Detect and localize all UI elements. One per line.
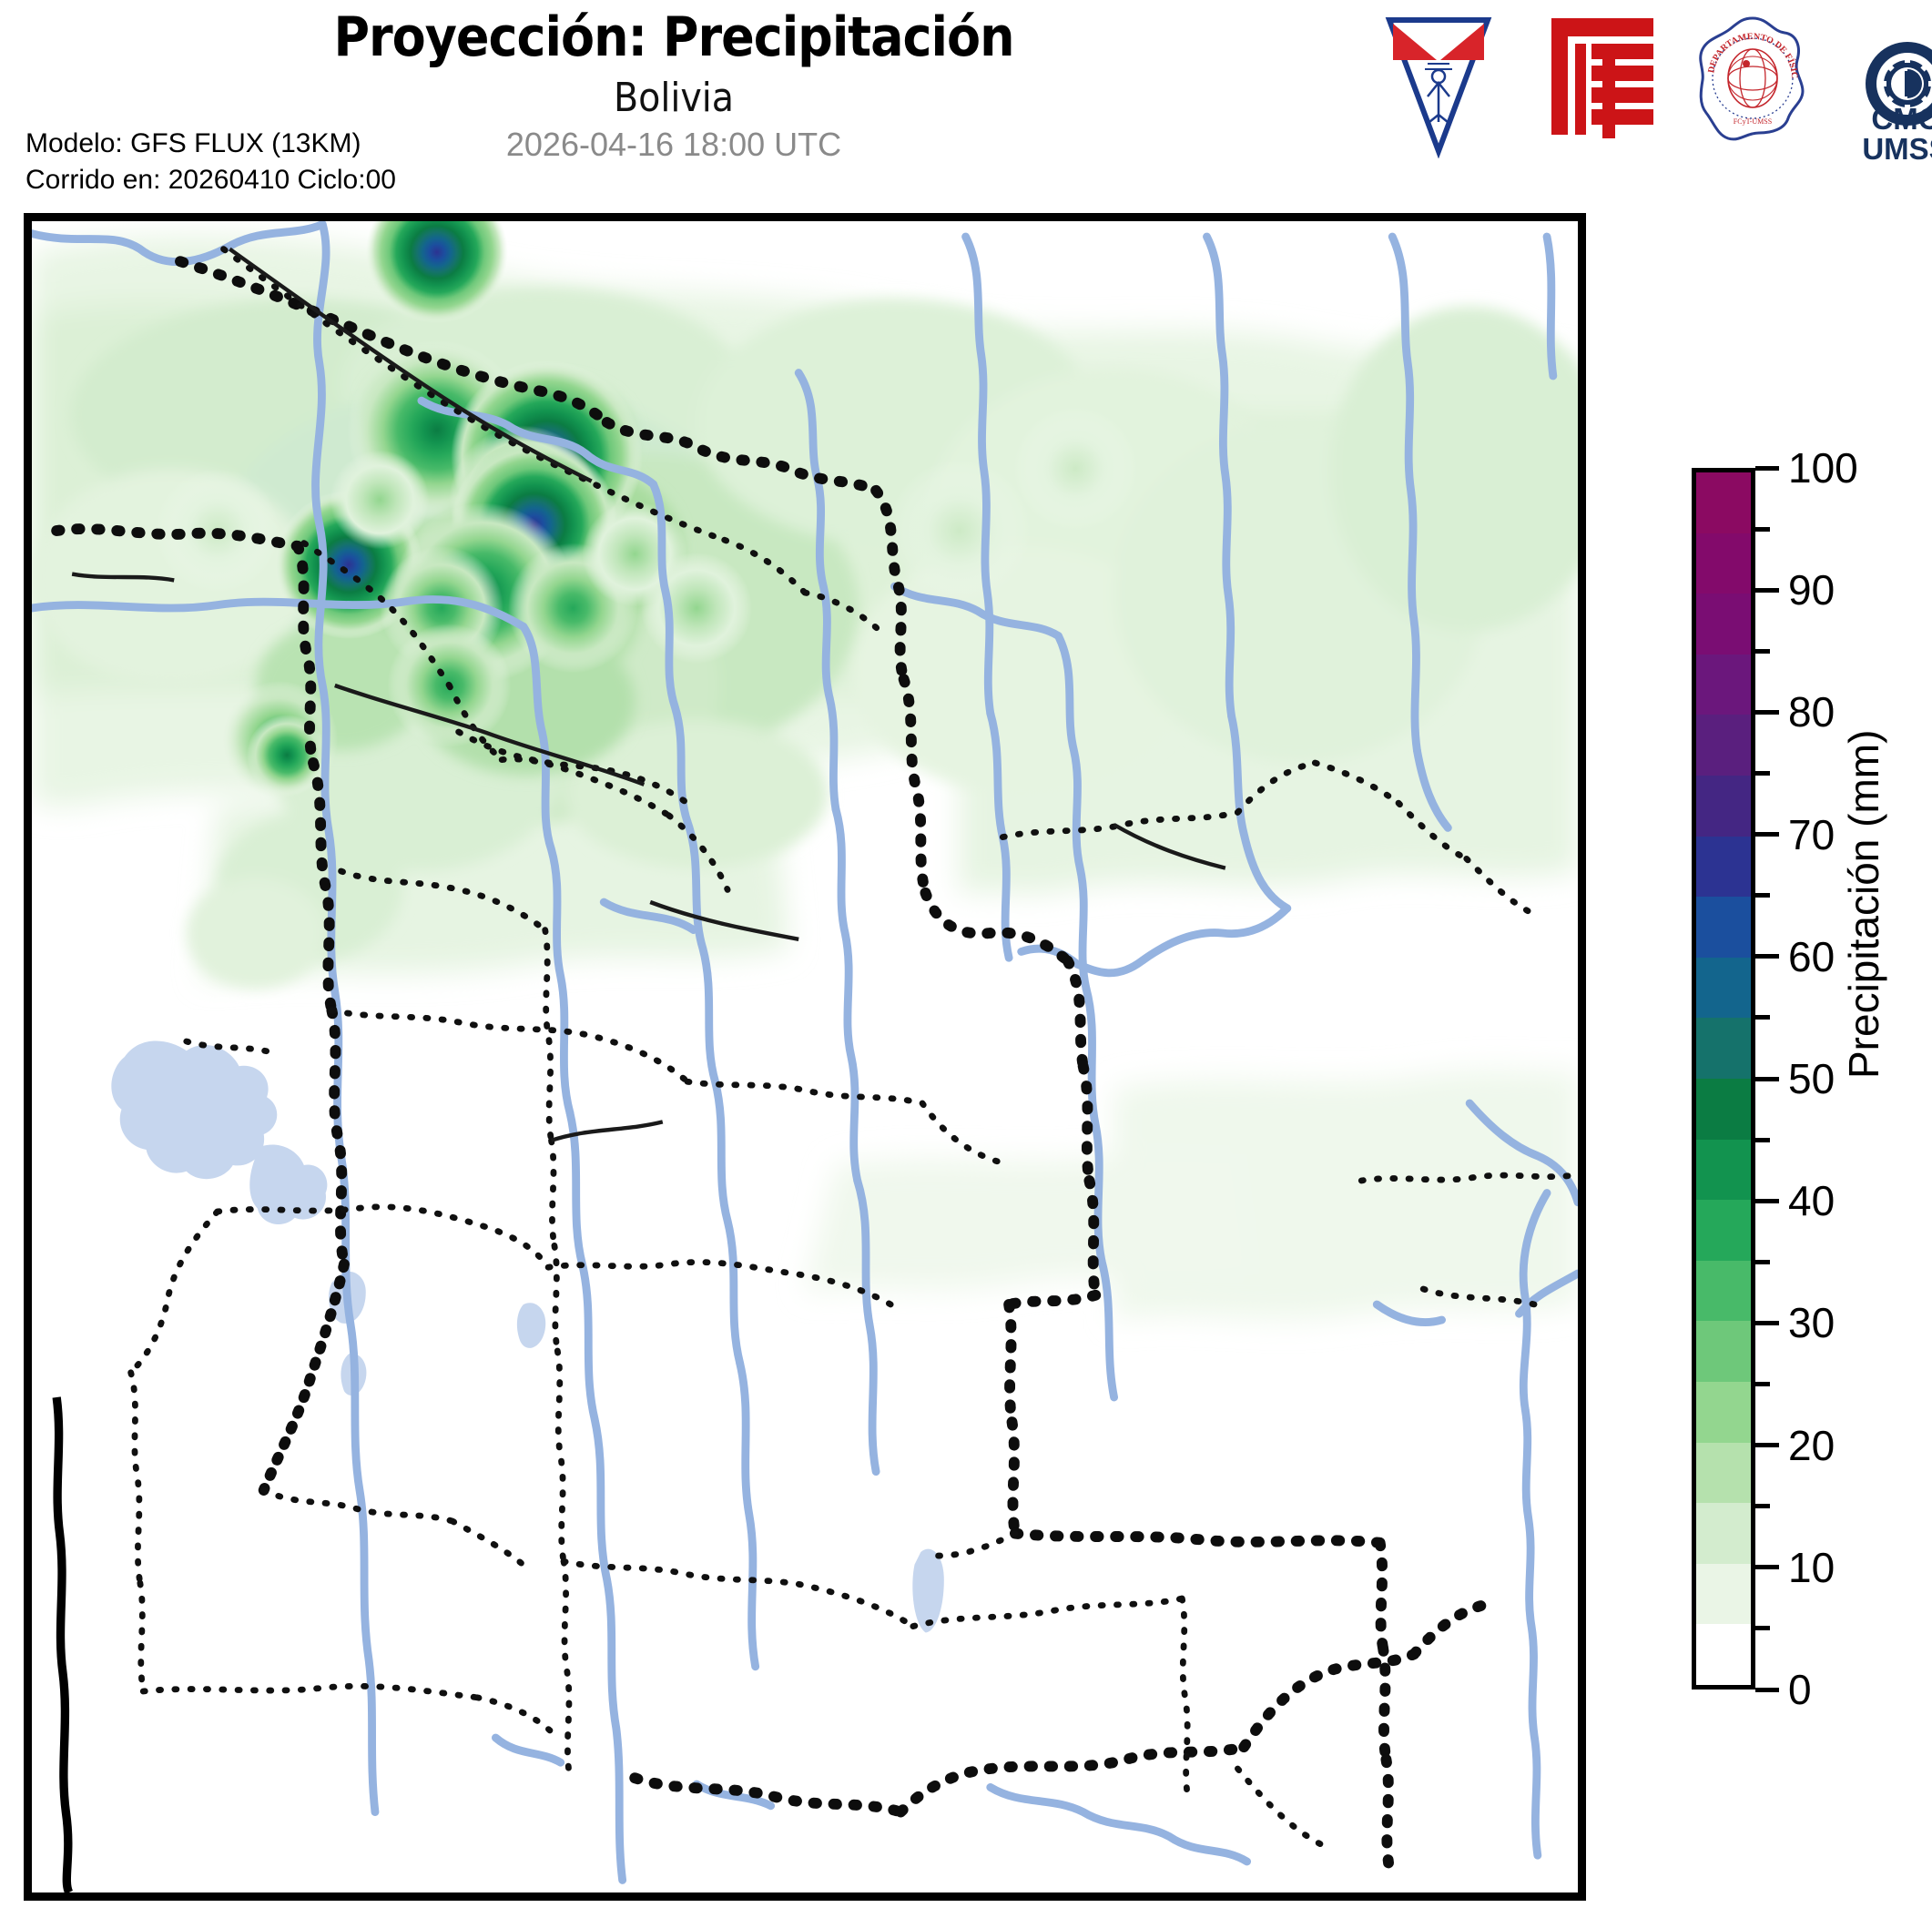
run-line: Corrido en: 20260410 Ciclo:00 — [25, 162, 396, 198]
colorbar-band — [1696, 1200, 1751, 1261]
colorbar — [1692, 468, 1755, 1690]
colorbar-tick-label: 10 — [1788, 1543, 1835, 1592]
colorbar-minor-tick — [1755, 527, 1770, 532]
colorbar-band — [1696, 594, 1751, 655]
colorbar-band — [1696, 1624, 1751, 1685]
colorbar-tick-label: 20 — [1788, 1421, 1835, 1470]
colorbar-major-tick — [1755, 954, 1779, 959]
colorbar-tick-label: 60 — [1788, 932, 1835, 981]
colorbar-band — [1696, 1261, 1751, 1322]
colorbar-major-tick — [1755, 588, 1779, 593]
colorbar-band — [1696, 1018, 1751, 1079]
colorbar-ticks: 1009080706050403020100 — [1755, 468, 1901, 1690]
model-metadata: Modelo: GFS FLUX (13KM) Corrido en: 2026… — [25, 126, 396, 198]
departamento-fisica-logo: DEPARTAMENTO DE FÍSICA FCyT-UMSS — [1693, 13, 1812, 149]
fcyt-logo — [1548, 13, 1657, 140]
colorbar-band — [1696, 897, 1751, 958]
colorbar-major-tick — [1755, 466, 1779, 471]
colorbar-tick-label: 30 — [1788, 1298, 1835, 1347]
colorbar-tick-label: 90 — [1788, 565, 1835, 614]
cmc-line2: UMSS — [1846, 134, 1932, 164]
colorbar-band — [1696, 1443, 1751, 1504]
model-line: Modelo: GFS FLUX (13KM) — [25, 126, 396, 162]
colorbar-band — [1696, 1321, 1751, 1382]
colorbar-tick-label: 70 — [1788, 810, 1835, 859]
colorbar-group: 1009080706050403020100 — [1692, 468, 1755, 1690]
colorbar-band — [1696, 958, 1751, 1019]
colorbar-tick-label: 80 — [1788, 687, 1835, 736]
colorbar-minor-tick — [1755, 649, 1770, 654]
colorbar-tick-label: 0 — [1788, 1665, 1812, 1714]
colorbar-minor-tick — [1755, 1504, 1770, 1508]
colorbar-band — [1696, 1564, 1751, 1625]
colorbar-tick-label: 50 — [1788, 1054, 1835, 1103]
colorbar-axis-label: Precipitación (mm) — [1839, 730, 1888, 1079]
colorbar-band — [1696, 533, 1751, 594]
cmc-umss-logo-text: CMC UMSS — [1846, 104, 1932, 164]
colorbar-band — [1696, 776, 1751, 837]
colorbar-major-tick — [1755, 1199, 1779, 1203]
colorbar-major-tick — [1755, 1688, 1779, 1692]
colorbar-major-tick — [1755, 832, 1779, 837]
colorbar-major-tick — [1755, 1565, 1779, 1569]
colorbar-major-tick — [1755, 1077, 1779, 1081]
map-frame — [24, 213, 1586, 1901]
colorbar-band — [1696, 472, 1751, 533]
colorbar-minor-tick — [1755, 771, 1770, 776]
colorbar-band — [1696, 655, 1751, 715]
logo-group: UMSS DEPARTAMENTO DE — [1384, 13, 1912, 167]
cmc-line1: CMC — [1846, 104, 1932, 134]
colorbar-band — [1696, 837, 1751, 898]
header: Proyección: Precipitación Bolivia 2026-0… — [0, 0, 1932, 209]
colorbar-minor-tick — [1755, 893, 1770, 898]
colorbar-band — [1696, 1079, 1751, 1140]
colorbar-minor-tick — [1755, 1015, 1770, 1020]
colorbar-band — [1696, 715, 1751, 776]
colorbar-major-tick — [1755, 1321, 1779, 1325]
colorbar-major-tick — [1755, 710, 1779, 715]
colorbar-minor-tick — [1755, 1382, 1770, 1386]
svg-text:FCyT-UMSS: FCyT-UMSS — [1734, 117, 1772, 126]
precipitation-map[interactable] — [32, 221, 1578, 1892]
colorbar-major-tick — [1755, 1443, 1779, 1447]
page-title: Proyección: Precipitación — [0, 9, 1347, 66]
colorbar-minor-tick — [1755, 1138, 1770, 1142]
svg-text:UMSS: UMSS — [1416, 26, 1460, 44]
subtitle-region: Bolivia — [0, 75, 1347, 121]
colorbar-band — [1696, 1382, 1751, 1443]
colorbar-minor-tick — [1755, 1260, 1770, 1264]
umss-logo: UMSS — [1384, 13, 1493, 158]
colorbar-tick-label: 40 — [1788, 1176, 1835, 1225]
colorbar-tick-label: 100 — [1788, 443, 1858, 492]
colorbar-minor-tick — [1755, 1626, 1770, 1630]
colorbar-band — [1696, 1503, 1751, 1564]
colorbar-band — [1696, 1140, 1751, 1201]
